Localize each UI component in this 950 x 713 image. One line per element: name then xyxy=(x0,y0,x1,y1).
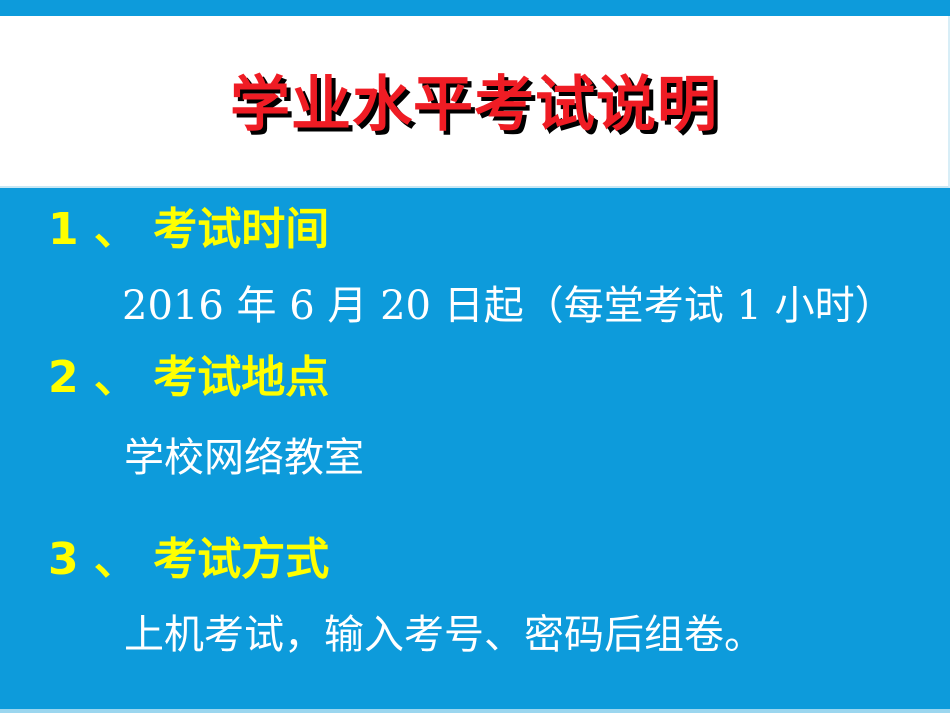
section-detail-2: 学校网络教室 xyxy=(124,438,364,478)
slide-body-panel: 1 、 考试时间 2016 年 6 月 20 日起（每堂考试 1 小时） 2 、… xyxy=(0,188,950,709)
bottom-accent-strip xyxy=(0,709,950,713)
section-detail-1: 2016 年 6 月 20 日起（每堂考试 1 小时） xyxy=(122,286,895,326)
title-plate: 学业水平考试说明 xyxy=(0,16,950,188)
section-heading-3: 3 、 考试方式 xyxy=(48,538,329,582)
top-accent-bar xyxy=(0,0,950,16)
section-heading-1: 1 、 考试时间 xyxy=(48,208,329,252)
section-heading-2: 2 、 考试地点 xyxy=(48,356,329,400)
section-detail-3: 上机考试，输入考号、密码后组卷。 xyxy=(124,615,764,655)
presentation-slide: 学业水平考试说明 1 、 考试时间 2016 年 6 月 20 日起（每堂考试 … xyxy=(0,0,950,713)
slide-body-content: 1 、 考试时间 2016 年 6 月 20 日起（每堂考试 1 小时） 2 、… xyxy=(0,188,950,709)
page-title: 学业水平考试说明 xyxy=(230,74,718,137)
